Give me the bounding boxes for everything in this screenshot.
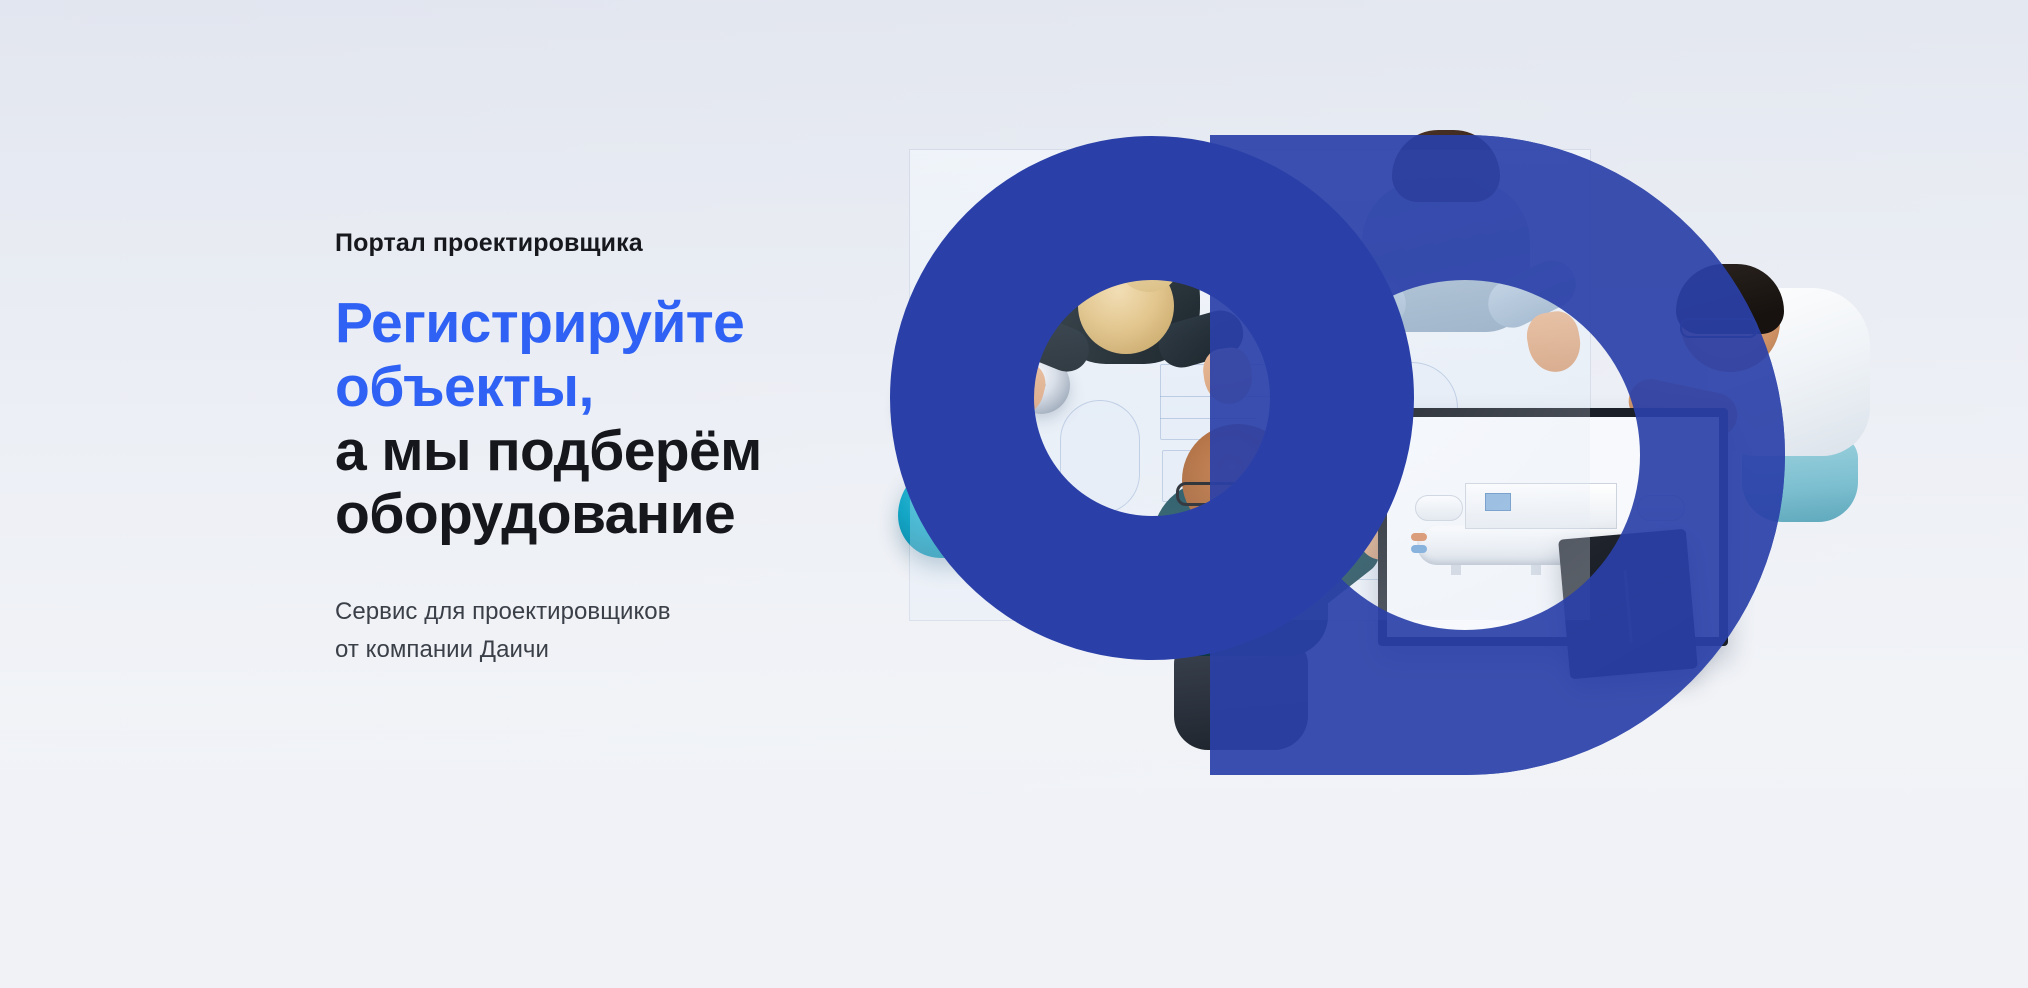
hero-headline: Регистрируйте объекты, а мы подберём обо… xyxy=(335,292,855,547)
headline-accent-line-2: объекты, xyxy=(335,356,855,420)
headline-plain-line-2: оборудование xyxy=(335,483,855,547)
page-title: Портал проектировщика xyxy=(335,228,855,258)
headline-accent-line-1: Регистрируйте xyxy=(335,292,855,356)
hero-copy-block: Портал проектировщика Регистрируйте объе… xyxy=(335,228,855,668)
subcopy-line-2: от компании Даичи xyxy=(335,636,549,663)
hero-subcopy: Сервис для проектировщиков от компании Д… xyxy=(335,593,855,667)
brand-mark-od xyxy=(880,0,2028,988)
hero-banner: Портал проектировщика Регистрируйте объе… xyxy=(0,0,2028,988)
subcopy-line-1: Сервис для проектировщиков xyxy=(335,598,671,625)
headline-plain-line-1: а мы подберём xyxy=(335,420,855,484)
letter-d-shape-icon xyxy=(880,0,2028,988)
hero-artwork xyxy=(880,0,2028,988)
